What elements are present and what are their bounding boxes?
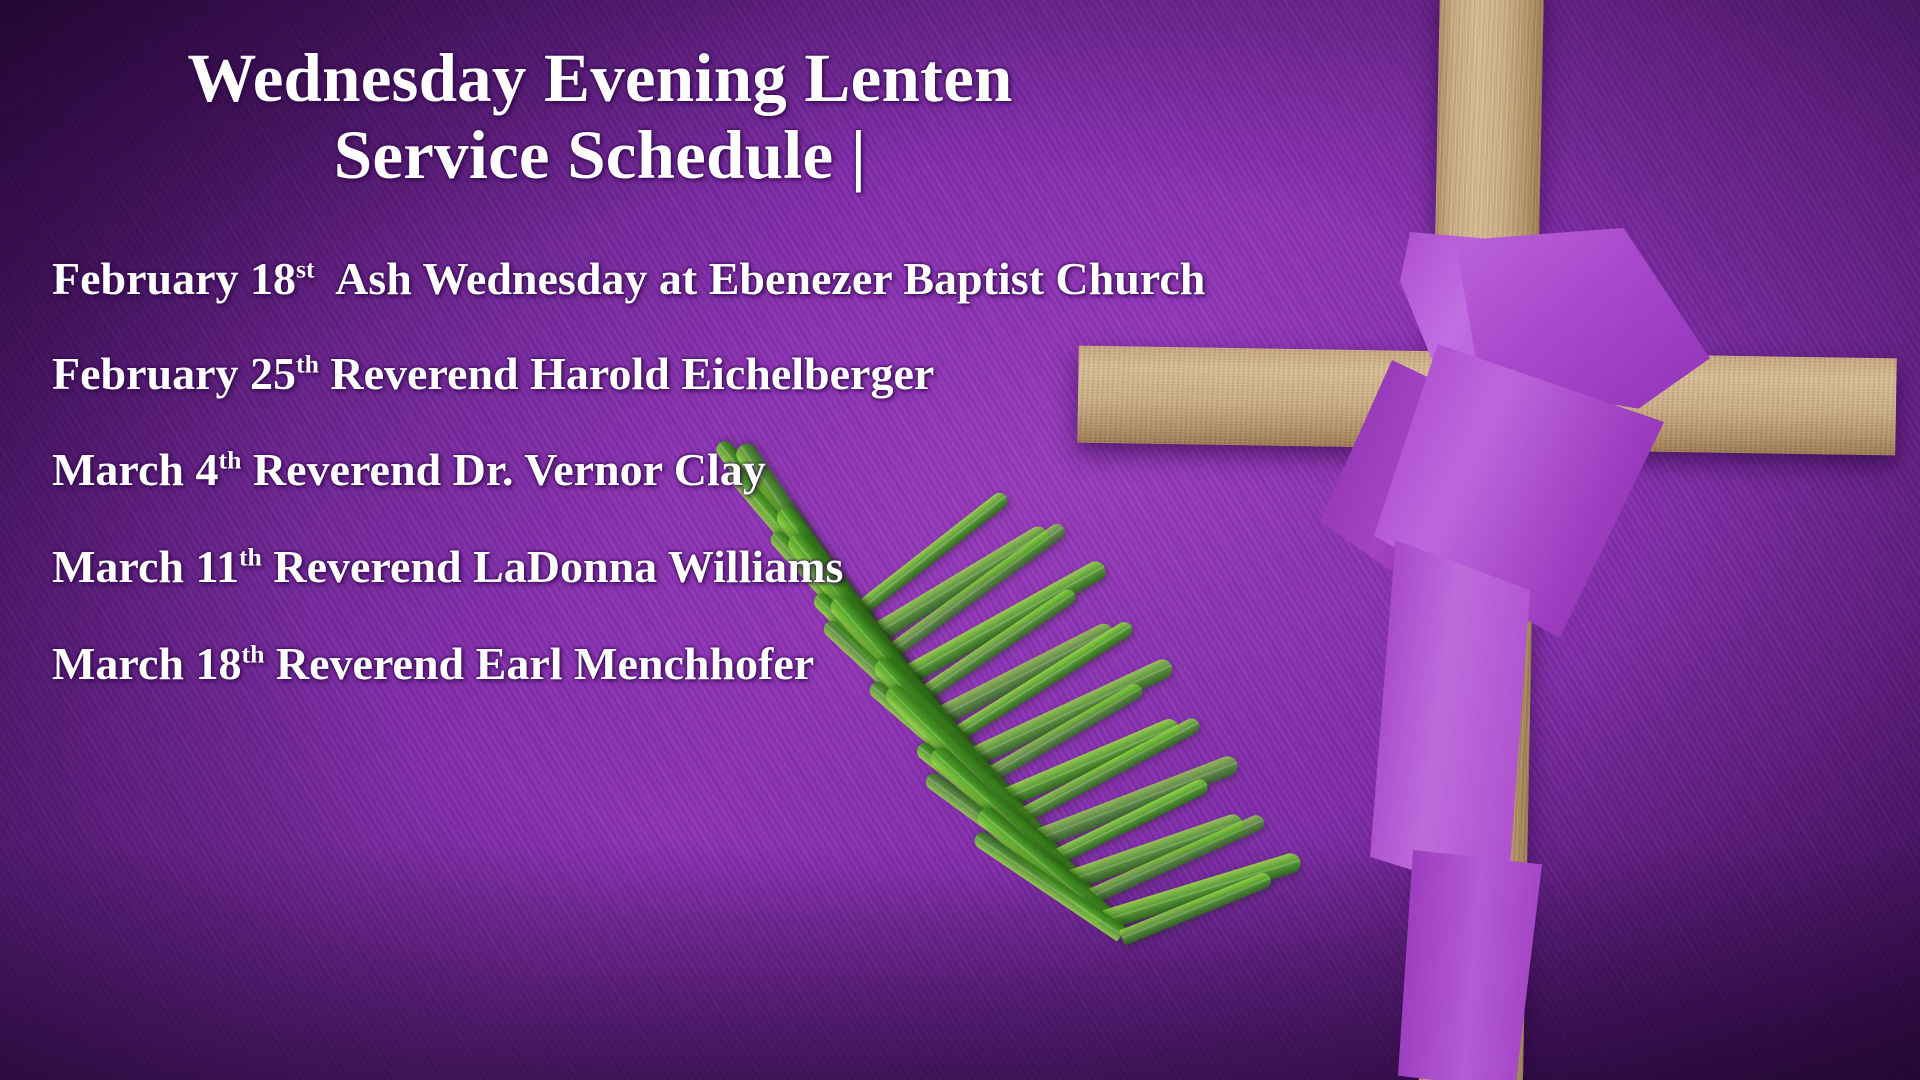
title-line-1: Wednesday Evening Lenten — [0, 40, 1200, 117]
page-title: Wednesday Evening Lenten Service Schedul… — [0, 40, 1200, 195]
entry-description: Reverend LaDonna Williams — [262, 541, 843, 592]
entry-description: Ash Wednesday at Ebenezer Baptist Church — [315, 253, 1206, 304]
entry-date: March 18 — [52, 638, 242, 689]
schedule-entry: March 18th Reverend Earl Menchhofer — [52, 637, 1302, 692]
entry-description: Reverend Dr. Vernor Clay — [241, 444, 765, 495]
entry-date-ordinal: th — [296, 349, 319, 378]
lenten-service-poster: Wednesday Evening Lenten Service Schedul… — [0, 0, 1920, 1080]
entry-description: Reverend Harold Eichelberger — [319, 348, 934, 399]
schedule-entry: March 11th Reverend LaDonna Williams — [52, 540, 1302, 595]
entry-date: March 11 — [52, 541, 239, 592]
entry-date-ordinal: th — [239, 543, 262, 572]
schedule-list: February 18st Ash Wednesday at Ebenezer … — [52, 252, 1302, 734]
entry-date-ordinal: th — [219, 446, 242, 475]
entry-date-ordinal: th — [242, 640, 265, 669]
poster-text-layer: Wednesday Evening Lenten Service Schedul… — [0, 0, 1920, 1080]
entry-description: Reverend Earl Menchhofer — [264, 638, 814, 689]
schedule-entry: March 4th Reverend Dr. Vernor Clay — [52, 443, 1302, 498]
entry-date: March 4 — [52, 444, 219, 495]
title-line-2: Service Schedule | — [0, 117, 1200, 194]
entry-date: February 25 — [52, 348, 296, 399]
entry-date: February 18 — [52, 253, 296, 304]
schedule-entry: February 25th Reverend Harold Eichelberg… — [52, 347, 1302, 402]
schedule-entry: February 18st Ash Wednesday at Ebenezer … — [52, 252, 1302, 307]
entry-date-ordinal: st — [296, 255, 315, 284]
